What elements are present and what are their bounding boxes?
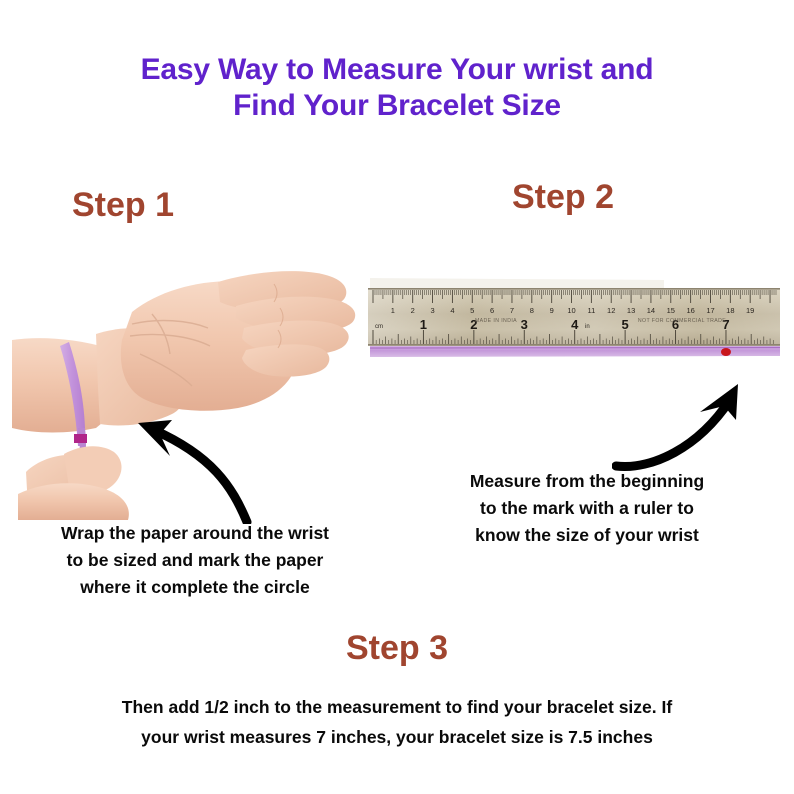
ruler-top-edge [368,288,780,290]
step-3-caption: Then add 1/2 inch to the measurement to … [52,692,742,752]
svg-text:3: 3 [521,317,528,332]
paper-strip-mark [74,434,87,443]
step-2-caption-line-3: know the size of your wrist [412,522,762,549]
svg-text:11: 11 [587,306,595,315]
ruler-photo: 12345678910111213141516171819 1234567 cm… [364,272,784,367]
step-3-heading: Step 3 [0,628,794,668]
arrow-to-wrist-mark-icon [120,412,260,524]
page-title-line-1: Easy Way to Measure Your wrist and [141,53,654,86]
svg-text:6: 6 [490,306,494,315]
svg-text:4: 4 [571,317,579,332]
step-1-caption-line-1: Wrap the paper around the wrist [8,520,382,547]
arrow-to-ruler-mark-icon [612,378,752,474]
svg-text:7: 7 [510,306,514,315]
svg-text:12: 12 [607,306,615,315]
step-2-caption-line-1: Measure from the beginning [412,468,762,495]
svg-text:13: 13 [627,306,635,315]
step-2-caption-line-2: to the mark with a ruler to [412,495,762,522]
svg-text:3: 3 [430,306,434,315]
svg-text:10: 10 [567,306,575,315]
page-title-line-2: Find Your Bracelet Size [0,88,794,124]
step-2-heading: Step 2 [512,177,614,217]
holding-hand [18,483,129,520]
svg-text:1: 1 [420,317,427,332]
ruler-red-mark [721,348,731,356]
step-1-caption-line-3: where it complete the circle [8,574,382,601]
svg-text:14: 14 [647,306,655,315]
svg-text:18: 18 [726,306,734,315]
ruler-inch-unit-label: in [585,324,590,330]
step-1-caption-line-2: to be sized and mark the paper [8,547,382,574]
svg-text:2: 2 [411,306,415,315]
svg-text:4: 4 [450,306,454,315]
svg-text:16: 16 [686,306,694,315]
step-3-caption-line-1: Then add 1/2 inch to the measurement to … [52,692,742,722]
infographic-canvas: Easy Way to Measure Your wrist and Find … [0,0,794,794]
ruler-engraving-made-in-india: MADE IN INDIA [475,318,517,324]
svg-text:5: 5 [470,306,474,315]
page-title: Easy Way to Measure Your wrist and Find … [0,52,794,124]
strip-top-edge [370,348,780,349]
forearm [12,338,108,432]
step-1-heading: Step 1 [72,185,174,225]
ruler-engraving-not-for-commercial-trade: NOT FOR COMMERCIAL TRADE [638,318,726,324]
step-3-caption-line-2: your wrist measures 7 inches, your brace… [52,722,742,752]
svg-text:8: 8 [530,306,534,315]
svg-text:9: 9 [550,306,554,315]
ruler-metric-unit-label: cm [375,324,383,330]
svg-text:15: 15 [667,306,675,315]
ruler-bottom-edge [368,344,780,346]
svg-text:5: 5 [622,317,629,332]
svg-text:19: 19 [746,306,754,315]
step-2-caption: Measure from the beginning to the mark w… [412,468,762,549]
svg-text:17: 17 [706,306,714,315]
svg-text:1: 1 [391,306,395,315]
step-1-caption: Wrap the paper around the wrist to be si… [8,520,382,601]
